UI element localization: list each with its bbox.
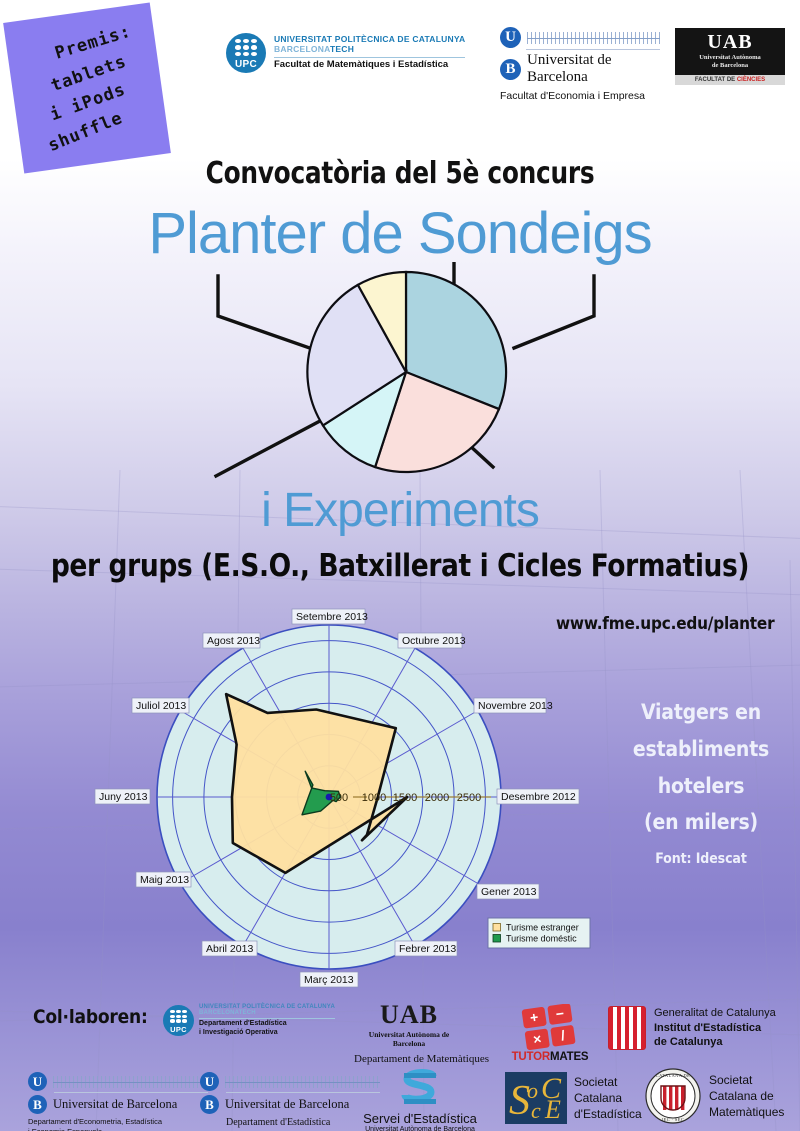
ub-building-icon [527,32,660,44]
svg-text:Juny 2013: Juny 2013 [99,791,148,803]
upc-faculty-name: Facultat de Matemàtiques i Estadística [274,60,465,71]
caption-line-2: establiments [608,731,794,768]
legend-label-turisme-domestic: Turisme doméstic [506,934,577,944]
logo-idescat: Generalitat de Catalunya Institut d'Esta… [608,1006,776,1050]
pie-slices [307,272,506,472]
page-subtitle-convocatoria: Convocatòria del 5è concurs [32,156,768,191]
svg-text:E: E [544,1095,561,1124]
caption-line-1: Viatgers en [608,694,794,731]
ub1-letter-b-icon: B [28,1095,47,1114]
servei-s-icon [399,1068,441,1110]
svg-text:Gener 2013: Gener 2013 [481,886,537,898]
scm-seal-icon: CATALANA DE · IEC · SEC · [645,1068,701,1124]
upc-divider [274,57,465,58]
logo-societat-catalana-matematiques: CATALANA DE · IEC · SEC · Societat Catal… [645,1068,784,1124]
upc-deio-line-3: Departament d'Estadística [199,1020,335,1029]
logo-uab: UAB Universitat Autònoma de Barcelona FA… [675,28,785,85]
radar-label-setembre-2013: Setembre 2013 [292,609,368,624]
upc-tech-word: TECH [330,44,354,54]
caption-line-4: (en milers) [608,804,794,841]
upc-deio-line-4: i Investigació Operativa [199,1029,335,1038]
upc-deio-divider [199,1018,335,1019]
uab-faculty-accent: CIÈNCIES [737,77,765,83]
upc-deio-mark-label: UPC [163,1025,194,1034]
servei-sub-1: Universitat Autònoma de Barcelona [350,1126,490,1131]
radar-label-agost-2013: Agost 2013 [203,633,260,648]
pie-chart [196,262,616,482]
radar-label-desembre-2012: Desembre 2012 [497,789,579,804]
ub-letter-b-icon: B [500,59,521,80]
logo-upc-deio: UPC UNIVERSITAT POLITÈCNICA DE CATALUNYA… [163,1004,335,1038]
logo-tutormates: + − × / TUTORMATES [500,1004,600,1063]
logo-upc: UPC UNIVERSITAT POLITÈCNICA DE CATALUNYA… [226,33,465,73]
upc-deio-line-2: BARCELONATECH [199,1010,335,1016]
caption-line-3: hotelers [608,768,794,805]
uab-mat-title: Universitat Autònoma de Barcelona [354,1030,464,1048]
ub-divider [526,49,660,50]
radar-label-octubre-2013: Octubre 2013 [398,633,466,648]
radar-label-maig-2013: Maig 2013 [136,872,191,887]
radar-tick-1500: 1500 [393,792,417,804]
uab-mark-label: UAB [681,32,779,52]
svg-text:Novembre 2013: Novembre 2013 [478,700,553,712]
tutormates-word-a: TUTOR [512,1051,550,1063]
scm-line-1: Societat [709,1072,784,1088]
svg-text:Desembre 2012: Desembre 2012 [501,791,576,803]
radar-legend: Turisme estranger Turisme doméstic [488,918,590,948]
logo-uab-matematiques: UAB Universitat Autònoma de Barcelona De… [354,1002,464,1065]
chart-caption: Viatgers en establiments hotelers (en mi… [608,694,794,867]
legend-swatch-turisme-domestic [493,935,501,943]
uab-mat-sub-1: Departament de Matemàtiques [354,1053,464,1065]
legend-label-turisme-estranger: Turisme estranger [506,923,579,933]
radar-label-marc-2013: Març 2013 [300,972,358,987]
radar-tick-2000: 2000 [425,792,449,804]
poster-canvas: Premis: tablets i iPods shuffle UPC UNIV… [0,0,800,1131]
svg-text:Febrer 2013: Febrer 2013 [399,943,456,955]
radar-label-juliol-2013: Juliol 2013 [132,698,189,713]
logo-ub-econometria: U B Universitat de Barcelona Departament… [28,1072,208,1131]
ub2-letter-u-icon: U [200,1072,219,1091]
servei-title: Servei d'Estadística [350,1111,490,1126]
sce-line-3: d'Estadística [574,1106,642,1122]
sce-line-2: Catalana [574,1090,642,1106]
caption-source: Font: Idescat [608,851,794,867]
page-title-secondary: i Experiments [0,483,800,538]
tutormates-word-b: MATES [550,1051,588,1063]
svg-text:Setembre 2013: Setembre 2013 [296,611,368,623]
radar-label-abril-2013: Abril 2013 [202,941,257,956]
ub-letter-u-icon: U [500,27,521,48]
svg-text:· IEC · SEC ·: · IEC · SEC · [658,1117,687,1122]
senyera-shield-icon [608,1006,646,1050]
upc-deio-mark-icon: UPC [163,1005,194,1036]
radar-label-juny-2013: Juny 2013 [95,789,150,804]
svg-text:Juliol 2013: Juliol 2013 [136,700,186,712]
legend-swatch-turisme-estranger [493,924,501,932]
ub-faculty-name: Facultat d'Economia i Empresa [500,90,660,102]
radar-label-gener-2013: Gener 2013 [477,884,539,899]
idescat-line-2: Institut d'Estadística [654,1021,776,1036]
logo-servei-estadistica-uab: Servei d'Estadística Universitat Autònom… [350,1068,490,1131]
radar-tick-1000: 1000 [362,792,386,804]
idescat-line-1: Generalitat de Catalunya [654,1006,776,1021]
svg-text:Maig 2013: Maig 2013 [140,874,189,886]
svg-text:Agost 2013: Agost 2013 [207,635,260,647]
svg-text:c: c [531,1098,541,1123]
ub2-title: Universitat de Barcelona [225,1097,349,1112]
svg-text:Març 2013: Març 2013 [304,974,354,986]
ub1-sub-1: Departament d'Econometria, Estadística [28,1117,208,1127]
ub1-title: Universitat de Barcelona [53,1097,177,1112]
sce-line-1: Societat [574,1074,642,1090]
svg-text:Octubre 2013: Octubre 2013 [402,635,466,647]
logo-societat-catalana-estadistica: S o C c E Societat Catalana d'Estadístic… [505,1072,642,1124]
radar-label-novembre-2013: Novembre 2013 [474,698,553,713]
radar-chart: 500 1000 1500 2000 2500 Desembre 2012 Ge… [92,600,602,990]
upc-barcelona-word: BARCELONA [274,44,330,54]
svg-text:CATALANA DE: CATALANA DE [656,1073,690,1078]
uab-mat-mark: UAB [354,1002,464,1028]
upc-mark-label: UPC [226,59,266,70]
ub1-letter-u-icon: U [28,1072,47,1091]
ub1-divider [54,1092,208,1093]
ub-university-name: Universitat de Barcelona [527,52,660,86]
ub2-letter-b-icon: B [200,1095,219,1114]
uab-name-line-1: Universitat Autònoma [681,54,779,62]
scm-line-3: Matemàtiques [709,1104,784,1120]
radar-tick-500: 500 [330,792,348,804]
sce-monogram-icon: S o C c E [505,1072,567,1124]
ub1-building-icon [53,1076,208,1088]
scm-line-2: Catalana de [709,1088,784,1104]
uab-faculty-prefix: FACULTAT DE [695,77,737,83]
radar-tick-2500: 2500 [457,792,481,804]
idescat-line-3: de Catalunya [654,1035,776,1050]
ub1-sub-2: i Economia Espanyola [28,1127,208,1131]
uab-name-line-2: de Barcelona [681,62,779,70]
svg-text:Abril 2013: Abril 2013 [206,943,253,955]
upc-mark-icon: UPC [226,33,266,73]
logo-ub: U B Universitat de Barcelona Facultat d'… [500,27,660,102]
prize-callout-box: Premis: tablets i iPods shuffle [3,2,171,173]
page-subtitle-groups: per grups (E.S.O., Batxillerat i Cicles … [20,548,780,584]
radar-label-febrer-2013: Febrer 2013 [395,941,457,956]
page-title-main: Planter de Sondeigs [0,200,800,267]
collaborators-heading: Col·laboren: [33,1006,148,1028]
